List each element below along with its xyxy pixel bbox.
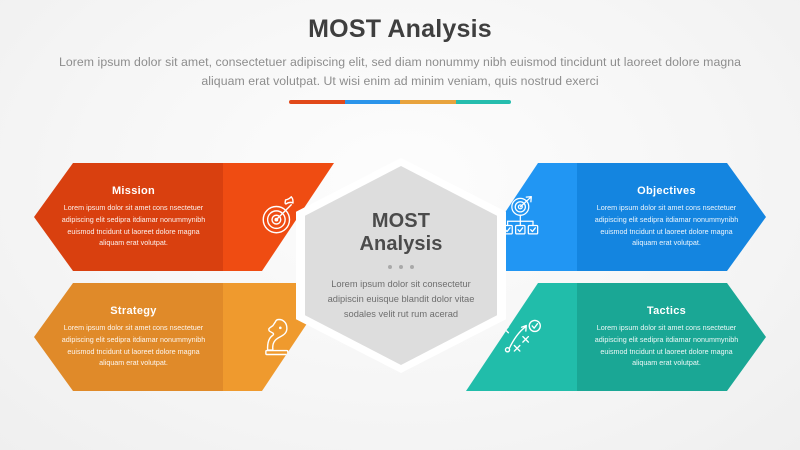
center-title: MOST Analysis (359, 210, 442, 256)
accent-segment-2 (345, 100, 401, 104)
dot-2 (399, 265, 403, 269)
panel-objectives[interactable]: Objectives Lorem ipsum dolor sit amet co… (466, 163, 766, 271)
tactics-text-area: Tactics Lorem ipsum dolor sit amet cons … (577, 283, 766, 391)
chess-knight-icon (260, 316, 298, 358)
center-title-line1: MOST (359, 210, 442, 233)
accent-segment-3 (400, 100, 456, 104)
mission-text-area: Mission Lorem ipsum dolor sit amet cons … (34, 163, 223, 271)
accent-segment-1 (289, 100, 345, 104)
panel-tactics[interactable]: Tactics Lorem ipsum dolor sit amet cons … (466, 283, 766, 391)
dot-1 (388, 265, 392, 269)
objectives-text-area: Objectives Lorem ipsum dolor sit amet co… (577, 163, 766, 271)
page-subtitle: Lorem ipsum dolor sit amet, consectetuer… (55, 53, 745, 91)
playbook-tactics-icon (499, 317, 545, 357)
center-title-line2: Analysis (359, 233, 442, 256)
objectives-title: Objectives (637, 185, 696, 197)
panel-mission[interactable]: Mission Lorem ipsum dolor sit amet cons … (34, 163, 334, 271)
center-body: Lorem ipsum dolor sit consectetur adipis… (327, 277, 475, 322)
infographic-canvas: MOST Analysis Lorem ipsum dolor sit amet… (0, 0, 800, 450)
objectives-chart-icon (500, 195, 544, 239)
tactics-body: Lorem ipsum dolor sit amet cons nsectetu… (592, 322, 742, 369)
header: MOST Analysis Lorem ipsum dolor sit amet… (0, 16, 800, 104)
page-title: MOST Analysis (0, 16, 800, 44)
accent-segment-4 (456, 100, 512, 104)
dot-3 (410, 265, 414, 269)
center-dots-separator (388, 265, 414, 269)
tactics-title: Tactics (647, 305, 686, 317)
panel-strategy[interactable]: Strategy Lorem ipsum dolor sit amet cons… (34, 283, 334, 391)
mission-title: Mission (112, 185, 155, 197)
target-arrow-icon (258, 196, 300, 238)
strategy-title: Strategy (110, 305, 156, 317)
objectives-body: Lorem ipsum dolor sit amet cons nsectetu… (592, 202, 742, 249)
strategy-body: Lorem ipsum dolor sit amet cons nsectetu… (59, 322, 209, 369)
strategy-text-area: Strategy Lorem ipsum dolor sit amet cons… (34, 283, 223, 391)
mission-body: Lorem ipsum dolor sit amet cons nsectetu… (59, 202, 209, 249)
accent-color-bar (289, 100, 511, 104)
